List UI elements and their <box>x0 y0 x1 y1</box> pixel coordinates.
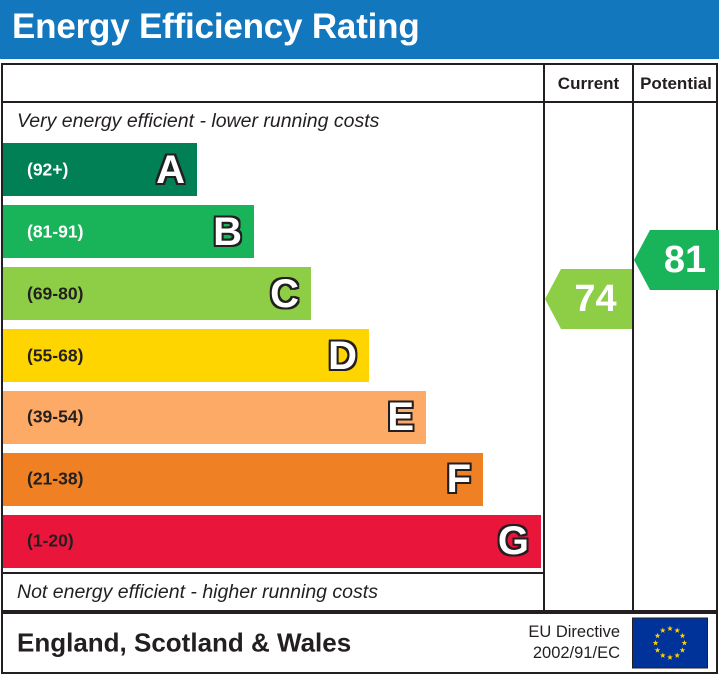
band-bars-container: (92+)A(81-91)B(69-80)C(55-68)D(39-54)E(2… <box>3 139 543 572</box>
footer-region-label: England, Scotland & Wales <box>17 628 351 659</box>
eu-flag-star <box>660 628 666 633</box>
eu-directive-line1: EU Directive <box>528 622 620 643</box>
column-header-current: Current <box>545 65 632 103</box>
eu-flag-star <box>653 640 659 645</box>
eu-flag-icon <box>632 618 708 669</box>
rating-table: Current Potential Very energy efficient … <box>1 63 718 612</box>
eu-directive-label: EU Directive 2002/91/EC <box>528 622 620 664</box>
rating-arrow-potential: 81 <box>634 230 719 290</box>
band-letter-e: E <box>387 397 414 437</box>
band-letter-d: D <box>328 336 357 376</box>
title-bar: Energy Efficiency Rating <box>0 0 719 59</box>
band-bar-b: (81-91)B <box>3 205 254 258</box>
eu-flag-star <box>655 647 661 652</box>
band-letter-f: F <box>447 459 471 499</box>
eu-directive-line2: 2002/91/EC <box>528 643 620 664</box>
top-caption: Very energy efficient - lower running co… <box>3 103 543 139</box>
band-bar-e: (39-54)E <box>3 391 426 444</box>
band-bar-c: (69-80)C <box>3 267 311 320</box>
eu-flag-star <box>680 633 686 638</box>
band-letter-b: B <box>213 212 242 252</box>
eu-flag-star <box>660 653 666 658</box>
eu-flag-stars-svg <box>633 619 707 668</box>
band-bar-d: (55-68)D <box>3 329 369 382</box>
eu-flag-star <box>667 654 673 659</box>
eu-flag-star <box>682 640 688 645</box>
band-letter-a: A <box>156 150 185 190</box>
eu-flag-star <box>674 653 680 658</box>
energy-efficiency-certificate: Energy Efficiency Rating Current Potenti… <box>0 0 719 675</box>
band-range-d: (55-68) <box>27 345 83 366</box>
band-bar-a: (92+)A <box>3 143 197 196</box>
column-divider-current <box>543 65 545 610</box>
band-range-a: (92+) <box>27 159 68 180</box>
band-range-e: (39-54) <box>27 407 83 428</box>
band-range-f: (21-38) <box>27 469 83 490</box>
eu-flag-star <box>680 647 686 652</box>
column-divider-potential <box>632 65 634 610</box>
band-range-b: (81-91) <box>27 221 83 242</box>
eu-flag-star <box>674 628 680 633</box>
band-letter-c: C <box>270 274 299 314</box>
band-bar-f: (21-38)F <box>3 453 483 506</box>
eu-flag-star <box>655 633 661 638</box>
footer: England, Scotland & Wales EU Directive 2… <box>1 612 718 674</box>
column-header-potential: Potential <box>634 65 718 103</box>
band-range-c: (69-80) <box>27 283 83 304</box>
rating-arrow-current: 74 <box>545 269 632 329</box>
eu-flag-star <box>667 626 673 631</box>
bottom-caption: Not energy efficient - higher running co… <box>3 574 543 610</box>
band-letter-g: G <box>498 521 529 561</box>
band-range-g: (1-20) <box>27 531 74 552</box>
band-bar-g: (1-20)G <box>3 515 541 568</box>
page-title: Energy Efficiency Rating <box>12 7 420 47</box>
